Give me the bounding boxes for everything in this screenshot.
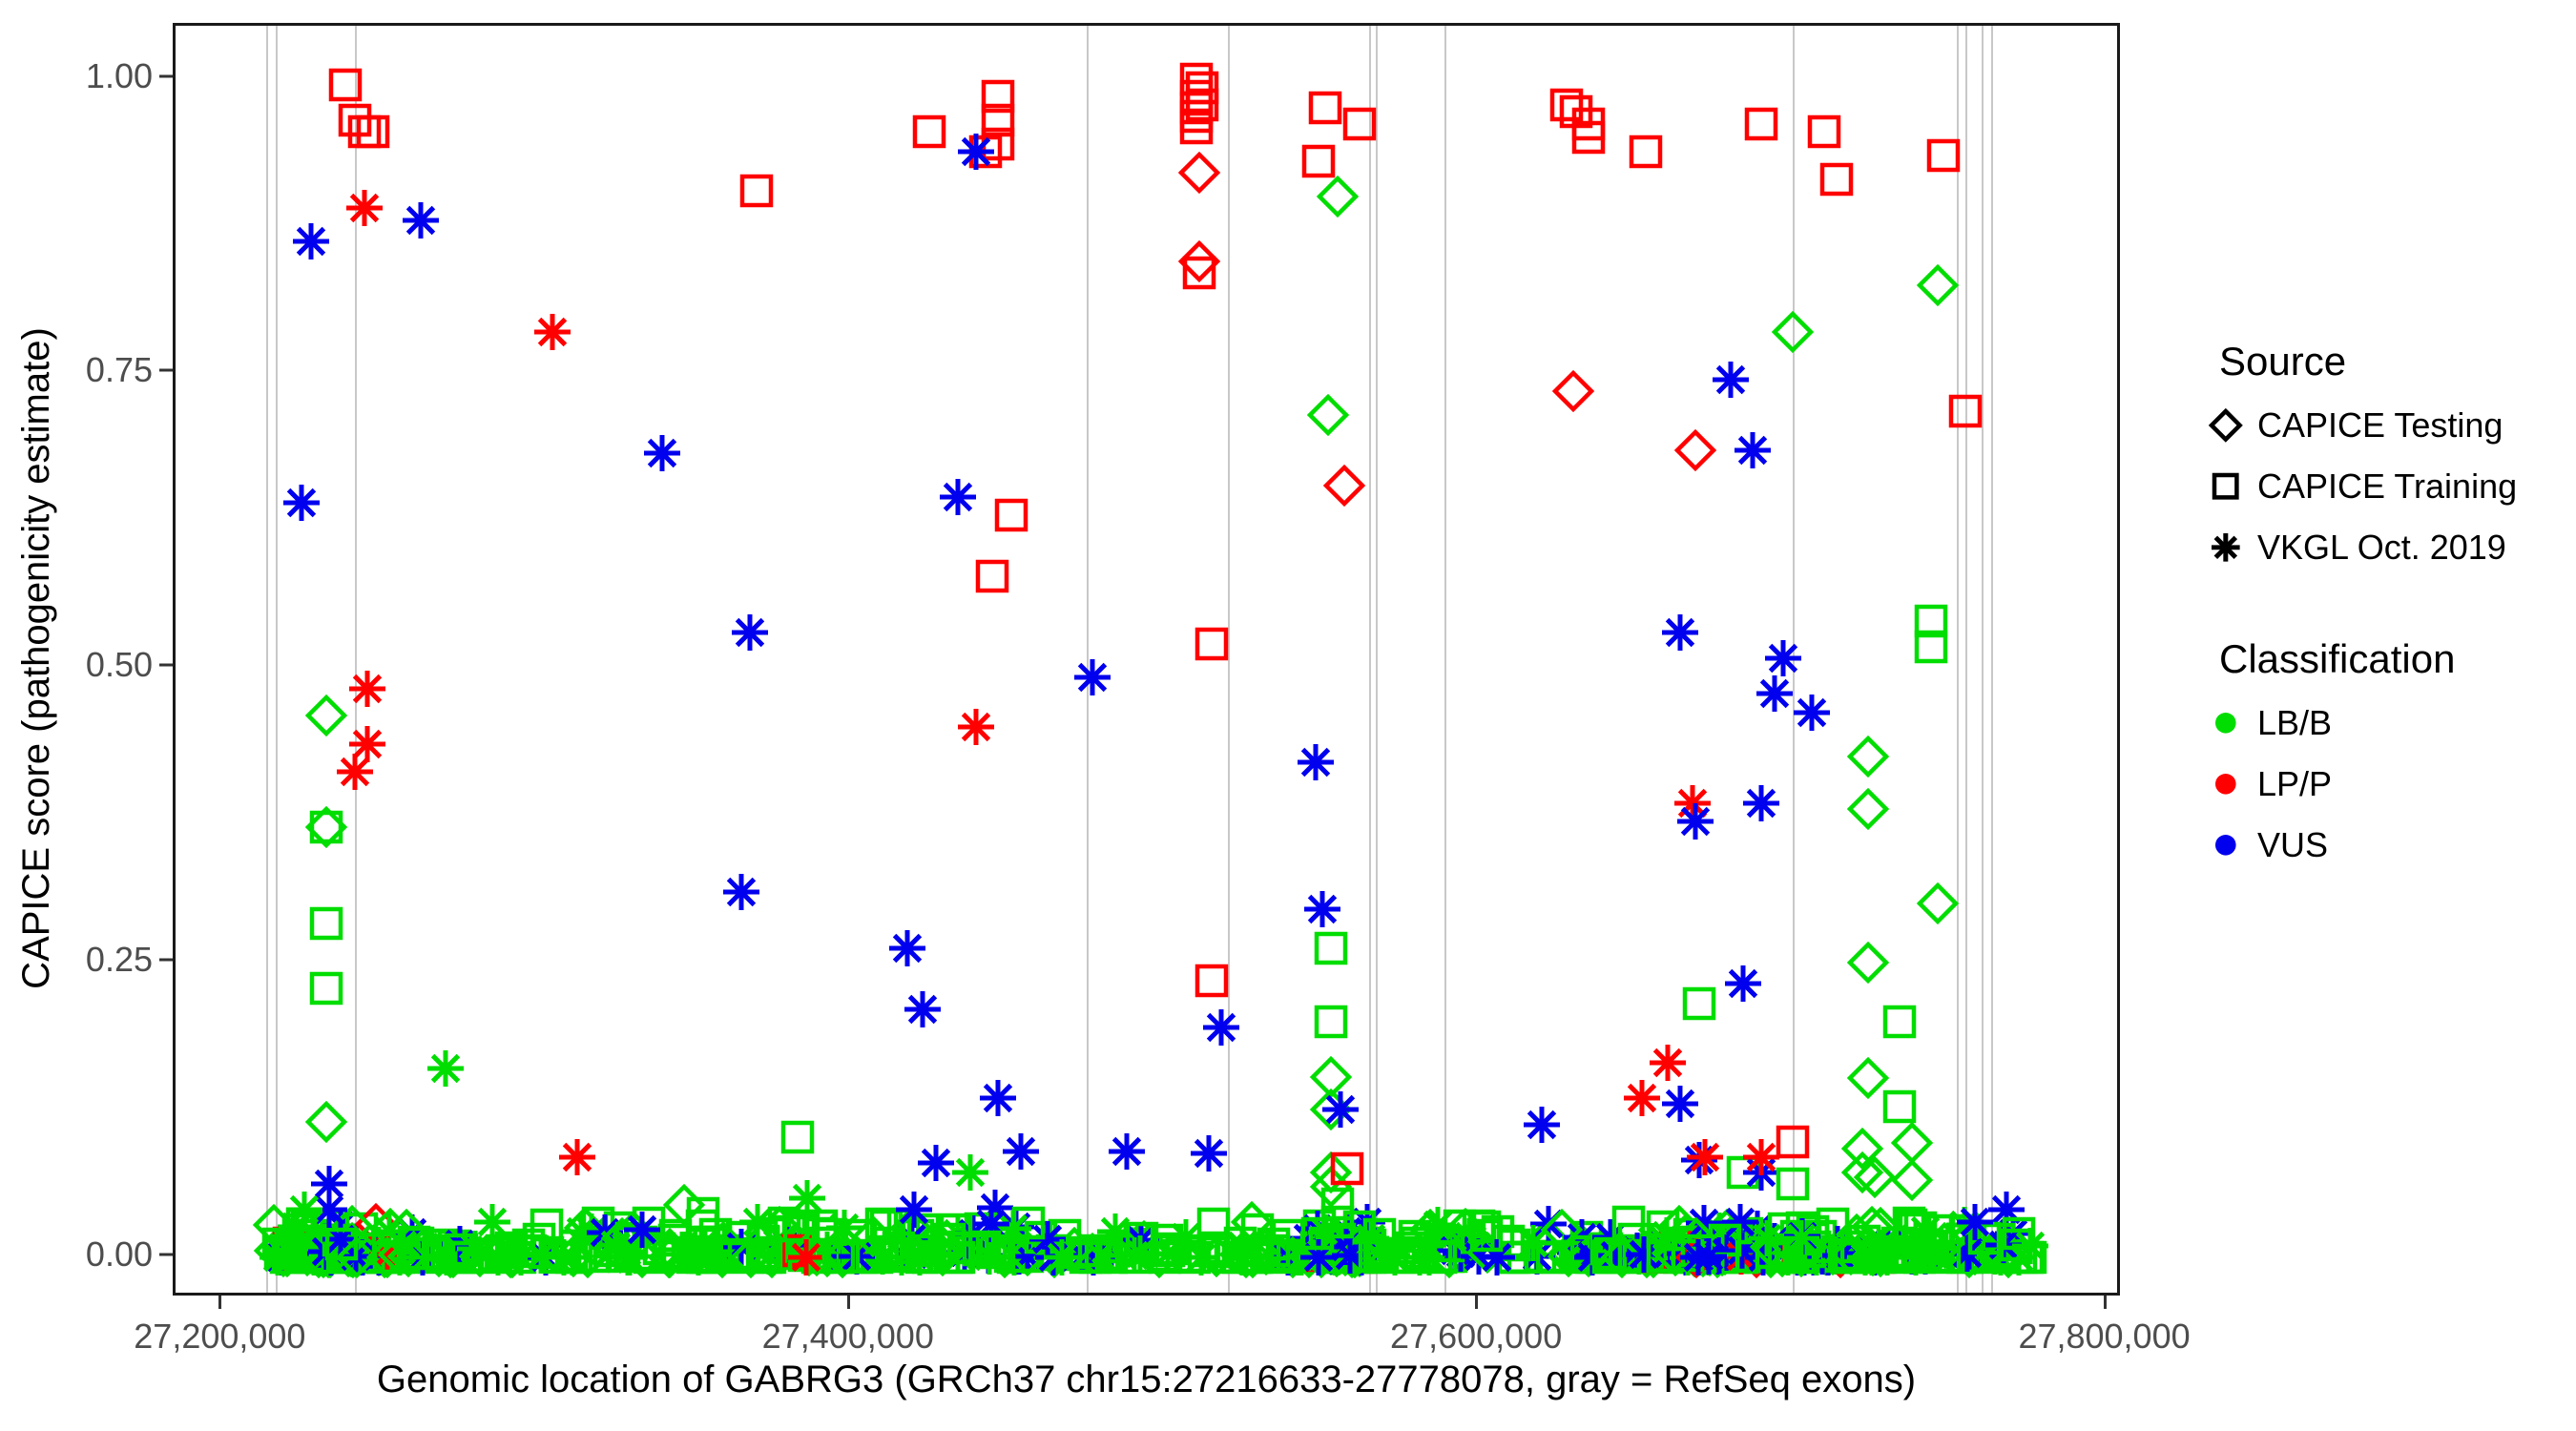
scatter-point: [557, 1238, 595, 1276]
scatter-point: [582, 1210, 628, 1255]
scatter-point: [1177, 97, 1215, 135]
scatter-point: [1569, 1234, 1615, 1280]
scatter-point: [1308, 1087, 1354, 1132]
scatter-point: [1864, 1234, 1910, 1280]
scatter-point: [1077, 1233, 1123, 1278]
scatter-point: [1922, 1220, 1967, 1266]
scatter-point: [540, 1238, 578, 1276]
scatter-point: [303, 1229, 349, 1275]
scatter-point: [292, 1238, 330, 1276]
scatter-point: [1672, 427, 1718, 473]
scatter-point: [301, 1234, 346, 1280]
scatter-point: [834, 1237, 872, 1275]
legend-item[interactable]: LB/B: [2194, 695, 2576, 751]
scatter-point: [267, 1238, 305, 1276]
scatter-point: [303, 1231, 342, 1269]
scatter-point: [1117, 1231, 1163, 1276]
scatter-point: [328, 1234, 374, 1280]
scatter-point: [1680, 1234, 1726, 1279]
scatter-point: [452, 1226, 498, 1272]
scatter-point: [1725, 1217, 1771, 1263]
scatter-point: [1705, 1221, 1751, 1267]
scatter-point: [1682, 1134, 1728, 1180]
scatter-point: [1445, 1223, 1484, 1261]
scatter-point: [1324, 1209, 1370, 1255]
scatter-point: [1724, 1236, 1762, 1275]
scatter-point: [288, 1209, 326, 1247]
scatter-point: [1615, 1220, 1653, 1258]
scatter-point: [343, 1237, 382, 1275]
scatter-point: [364, 1238, 403, 1276]
scatter-point: [780, 1234, 819, 1273]
scatter-point: [1306, 1224, 1344, 1262]
scatter-point: [1801, 1217, 1839, 1255]
scatter-point: [1552, 1230, 1598, 1275]
scatter-point: [1343, 1227, 1389, 1273]
x-tick-label: 27,400,000: [696, 1317, 1001, 1357]
scatter-point: [362, 1234, 407, 1280]
scatter-point: [696, 1223, 735, 1261]
legend-group-title: Classification: [2219, 636, 2576, 682]
scatter-point: [328, 1234, 374, 1279]
scatter-point: [1116, 1238, 1154, 1276]
scatter-point: [1778, 1234, 1824, 1279]
scatter-point: [1514, 1234, 1560, 1279]
scatter-point: [993, 1232, 1031, 1270]
scatter-point: [344, 721, 390, 767]
scatter-point: [1719, 1228, 1765, 1274]
scatter-point: [1769, 1231, 1807, 1269]
scatter-point: [607, 1234, 653, 1280]
scatter-point: [1183, 86, 1221, 124]
scatter-point: [1890, 1204, 1928, 1242]
scatter-point: [802, 1207, 841, 1245]
scatter-point: [468, 1238, 507, 1276]
scatter-point: [1571, 1230, 1617, 1275]
scatter-point: [1308, 1164, 1354, 1210]
scatter-point: [359, 1232, 405, 1277]
scatter-point: [1460, 1207, 1498, 1245]
scatter-point: [1657, 1081, 1703, 1127]
scatter-point: [483, 1232, 521, 1270]
scatter-point: [1818, 1233, 1863, 1278]
scatter-point: [1230, 1234, 1276, 1280]
scatter-point: [904, 1211, 943, 1249]
scatter-point: [1312, 929, 1350, 967]
scatter-point: [1316, 1237, 1354, 1275]
scatter-point: [1777, 1214, 1823, 1260]
scatter-point: [899, 1216, 937, 1255]
scatter-point: [380, 1238, 418, 1276]
scatter-point: [1783, 1238, 1821, 1276]
scatter-point: [1322, 1235, 1361, 1274]
scatter-point: [1805, 1234, 1851, 1280]
scatter-point: [1432, 1237, 1470, 1275]
scatter-point: [300, 1231, 338, 1269]
scatter-point: [1594, 1238, 1632, 1276]
legend-item[interactable]: CAPICE Testing: [2194, 398, 2576, 453]
scatter-point: [1672, 1233, 1717, 1278]
scatter-point: [1493, 1238, 1531, 1276]
scatter-point: [399, 1224, 437, 1262]
scatter-point: [283, 1238, 322, 1276]
scatter-point: [264, 1227, 310, 1273]
scatter-point: [469, 1237, 508, 1275]
scatter-point: [1286, 1234, 1332, 1279]
scatter-point: [1111, 1233, 1157, 1278]
scatter-point: [389, 1210, 435, 1255]
scatter-point: [1718, 1230, 1756, 1268]
scatter-point: [1879, 1224, 1917, 1262]
scatter-point: [1615, 1236, 1653, 1275]
scatter-point: [834, 1234, 880, 1279]
legend-item[interactable]: VUS: [2194, 818, 2576, 873]
scatter-point: [353, 1201, 399, 1247]
scatter-point: [331, 1237, 369, 1275]
scatter-point: [286, 1225, 324, 1263]
scatter-point: [1194, 1234, 1239, 1279]
scatter-point: [1676, 1137, 1722, 1183]
scatter-point: [1673, 1223, 1712, 1261]
scatter-point: [283, 1205, 322, 1243]
scatter-point: [281, 1187, 327, 1233]
scatter-point: [1306, 89, 1344, 127]
scatter-point: [303, 804, 349, 850]
scatter-point: [794, 1233, 840, 1278]
exon-gridline: [1444, 26, 1446, 1293]
scatter-point: [1779, 1232, 1825, 1277]
scatter-point: [1422, 1238, 1460, 1276]
scatter-point: [252, 1228, 298, 1274]
scatter-point: [296, 1234, 342, 1280]
scatter-point: [831, 1231, 877, 1276]
scatter-point: [343, 1228, 389, 1274]
scatter-point: [325, 1234, 371, 1279]
scatter-point: [1033, 1232, 1071, 1270]
scatter-point: [1398, 1224, 1436, 1262]
scatter-point: [1748, 1234, 1794, 1280]
scatter-point: [554, 1134, 600, 1180]
scatter-point: [1305, 392, 1351, 438]
scatter-point: [280, 1211, 318, 1249]
scatter-point: [942, 1230, 987, 1275]
scatter-point: [1171, 1237, 1209, 1275]
legend-item[interactable]: LP/P: [2194, 757, 2576, 812]
scatter-point: [1800, 1232, 1846, 1277]
scatter-point: [1318, 1087, 1363, 1132]
scatter-point: [1694, 1234, 1740, 1280]
scatter-point: [1713, 1237, 1751, 1275]
scatter-point: [820, 1234, 865, 1280]
scatter-point: [1738, 780, 1784, 826]
scatter-point: [1702, 1232, 1748, 1277]
scatter-point: [1450, 1216, 1496, 1262]
scatter-point: [376, 1232, 422, 1277]
scatter-point: [1153, 1230, 1191, 1268]
scatter-point: [1735, 1218, 1781, 1264]
scatter-point: [1212, 1238, 1250, 1276]
scatter-point: [1489, 1222, 1527, 1260]
scatter-point: [1039, 1233, 1085, 1278]
scatter-point: [307, 1234, 353, 1280]
scatter-point: [1319, 1185, 1357, 1223]
scatter-point: [384, 1238, 422, 1276]
scatter-point: [1849, 1227, 1895, 1273]
scatter-point: [1123, 1219, 1161, 1257]
scatter-point: [1348, 1224, 1386, 1262]
scatter-point: [1265, 1234, 1311, 1280]
scatter-point: [1901, 1209, 1940, 1247]
scatter-point: [448, 1238, 487, 1276]
scatter-point: [1465, 1230, 1510, 1275]
scatter-point: [1296, 1234, 1341, 1280]
scatter-point: [1467, 1216, 1506, 1255]
scatter-point: [1838, 1230, 1883, 1275]
scatter-point: [1686, 1234, 1732, 1280]
scatter-point: [1842, 1234, 1888, 1280]
x-axis-title: Genomic location of GABRG3 (GRCh37 chr15…: [173, 1358, 2120, 1401]
scatter-point: [402, 1224, 447, 1270]
scatter-point: [364, 1232, 410, 1277]
scatter-point: [1392, 1229, 1430, 1267]
scatter-point: [784, 1211, 822, 1249]
scatter-point: [1298, 1234, 1344, 1279]
scatter-point: [631, 1238, 669, 1276]
scatter-point: [326, 66, 364, 104]
legend-item[interactable]: CAPICE Training: [2194, 459, 2576, 514]
scatter-point: [1825, 1235, 1863, 1274]
scatter-point: [718, 869, 764, 915]
y-tick-label: 0.00: [29, 1234, 153, 1275]
scatter-point: [966, 133, 1005, 171]
scatter-point: [930, 1220, 968, 1258]
scatter-point: [802, 1214, 841, 1253]
scatter-point: [611, 1209, 656, 1255]
scatter-point: [1765, 1237, 1803, 1275]
scatter-point: [304, 1234, 350, 1280]
scatter-point: [1274, 1236, 1312, 1275]
scatter-point: [294, 1238, 332, 1276]
scatter-point: [1643, 1219, 1689, 1265]
scatter-point: [953, 129, 999, 175]
scatter-point: [1902, 1234, 1948, 1279]
scatter-point: [489, 1234, 535, 1280]
scatter-point: [820, 1238, 858, 1276]
scatter-point: [480, 1230, 526, 1275]
scatter-point: [1317, 1232, 1362, 1277]
scatter-point: [1381, 1238, 1419, 1276]
scatter-point: [979, 77, 1017, 115]
scatter-point: [1892, 1235, 1930, 1274]
scatter-point: [764, 1222, 810, 1268]
scatter-point: [1621, 1232, 1667, 1277]
scatter-point: [1794, 1233, 1832, 1271]
scatter-point: [1092, 1209, 1138, 1255]
scatter-point: [318, 1203, 364, 1249]
scatter-point: [1329, 1234, 1375, 1280]
scatter-point: [265, 1220, 311, 1266]
scatter-point: [784, 1175, 830, 1221]
scatter-point: [264, 1234, 310, 1279]
scatter-point: [1177, 77, 1215, 115]
scatter-point: [1322, 1233, 1368, 1278]
scatter-point: [995, 1219, 1041, 1265]
scatter-point: [1334, 1234, 1372, 1273]
scatter-point: [897, 1234, 943, 1280]
scatter-point: [302, 1231, 348, 1276]
scatter-point: [1778, 1215, 1824, 1261]
scatter-point: [874, 1234, 912, 1273]
scatter-point: [1708, 357, 1754, 403]
scatter-point: [1858, 1205, 1903, 1251]
scatter-point: [558, 1209, 604, 1255]
x-tick-label: 27,800,000: [1952, 1317, 2257, 1357]
scatter-point: [655, 1221, 694, 1259]
scatter-point: [960, 1231, 998, 1269]
scatter-point: [1302, 1231, 1348, 1276]
scatter-point: [1581, 1230, 1619, 1268]
scatter-point: [501, 1238, 539, 1276]
scatter-point: [1588, 1230, 1626, 1268]
scatter-point: [415, 1238, 453, 1276]
scatter-point: [343, 1210, 381, 1248]
scatter-point: [662, 1227, 708, 1273]
scatter-point: [987, 1226, 1032, 1272]
scatter-point: [1630, 1218, 1675, 1264]
scatter-point: [398, 197, 444, 243]
scatter-point: [1321, 463, 1367, 508]
scatter-point: [640, 1230, 678, 1268]
scatter-point: [1657, 610, 1703, 655]
scatter-point: [821, 1205, 867, 1251]
scatter-point: [1958, 1234, 1996, 1273]
scatter-point: [1519, 1102, 1565, 1148]
scatter-point: [1726, 1230, 1772, 1275]
scatter-point: [897, 1237, 935, 1275]
scatter-point: [935, 474, 981, 520]
scatter-point: [699, 1234, 745, 1280]
scatter-point: [1656, 1226, 1694, 1264]
scatter-point: [1748, 1224, 1794, 1270]
scatter-point: [884, 1206, 923, 1244]
legend-item[interactable]: VKGL Oct. 2019: [2194, 520, 2576, 575]
scatter-point: [744, 1222, 782, 1260]
scatter-point: [427, 1234, 473, 1280]
scatter-point: [788, 1227, 834, 1273]
exon-gridline: [1965, 26, 1967, 1293]
scatter-point: [326, 1238, 364, 1276]
scatter-point: [1243, 1232, 1289, 1277]
scatter-point: [979, 101, 1017, 139]
scatter-point: [288, 218, 334, 264]
scatter-point: [674, 1238, 712, 1276]
scatter-point: [308, 1234, 354, 1280]
scatter-point: [1327, 1233, 1373, 1278]
scatter-point: [1892, 1206, 1930, 1244]
scatter-point: [920, 1233, 966, 1278]
scatter-point: [1005, 1233, 1050, 1278]
scatter-point: [1780, 1238, 1818, 1276]
scatter-point: [269, 1232, 307, 1270]
scatter-point: [1693, 1227, 1732, 1265]
scatter-point: [338, 1234, 384, 1280]
scatter-point: [319, 1238, 357, 1276]
scatter-point: [291, 1211, 337, 1256]
scatter-point: [601, 1209, 639, 1247]
scatter-point: [377, 1234, 423, 1280]
scatter-point: [303, 693, 349, 738]
scatter-point: [1340, 1238, 1378, 1276]
scatter-point: [973, 557, 1011, 595]
scatter-point: [430, 1234, 476, 1280]
scatter-point: [438, 1234, 476, 1273]
scatter-point: [488, 1234, 533, 1280]
scatter-point: [1235, 1238, 1273, 1276]
scatter-point: [1521, 1237, 1559, 1275]
scatter-point: [940, 1238, 978, 1276]
scatter-point: [291, 1234, 337, 1280]
scatter-point: [1183, 69, 1221, 107]
scatter-point: [1645, 1040, 1691, 1086]
scatter-point: [938, 1238, 976, 1276]
scatter-point: [907, 1233, 953, 1278]
scatter-point: [1735, 1206, 1780, 1252]
plot-panel: [173, 23, 2120, 1296]
scatter-point: [1839, 1238, 1878, 1276]
scatter-point: [1331, 1234, 1369, 1273]
scatter-point: [1495, 1238, 1533, 1276]
scatter-point: [885, 1237, 924, 1275]
scatter-point: [992, 496, 1030, 534]
scatter-point: [1699, 1233, 1745, 1278]
scatter-point: [400, 1234, 446, 1280]
scatter-point: [475, 1234, 521, 1280]
scatter-point: [342, 185, 387, 231]
scatter-point: [1765, 1210, 1803, 1248]
scatter-point: [1510, 1220, 1556, 1266]
scatter-point: [727, 610, 773, 655]
scatter-point: [428, 1237, 467, 1275]
asterisk-icon: [2194, 529, 2257, 567]
scatter-point: [1696, 1208, 1742, 1254]
scatter-point: [1255, 1237, 1293, 1275]
scatter-point: [860, 1234, 905, 1279]
scatter-point: [1857, 1225, 1902, 1271]
scatter-point: [367, 1206, 413, 1252]
scatter-point: [294, 1231, 340, 1276]
scatter-point: [1636, 1237, 1674, 1275]
scatter-point: [1980, 1220, 2018, 1258]
scatter-point: [1818, 160, 1856, 198]
scatter-point: [294, 1216, 332, 1255]
scatter-point: [1878, 1238, 1916, 1276]
scatter-point: [910, 113, 948, 151]
scatter-point: [1997, 1226, 2035, 1264]
scatter-point: [1300, 1207, 1339, 1245]
scatter-point: [1531, 1237, 1569, 1275]
scatter-point: [2002, 1238, 2040, 1276]
chart-legend: SourceCAPICE TestingCAPICE TrainingVKGL …: [2194, 339, 2576, 934]
scatter-point: [1657, 1226, 1703, 1272]
scatter-point: [1391, 1238, 1429, 1276]
scatter-point: [282, 1221, 328, 1267]
scatter-point: [565, 1234, 611, 1280]
scatter-point: [334, 1234, 380, 1280]
scatter-point: [1695, 1234, 1741, 1279]
scatter-point: [1548, 1232, 1593, 1277]
scatter-point: [1314, 1234, 1360, 1279]
scatter-point: [812, 1215, 850, 1254]
